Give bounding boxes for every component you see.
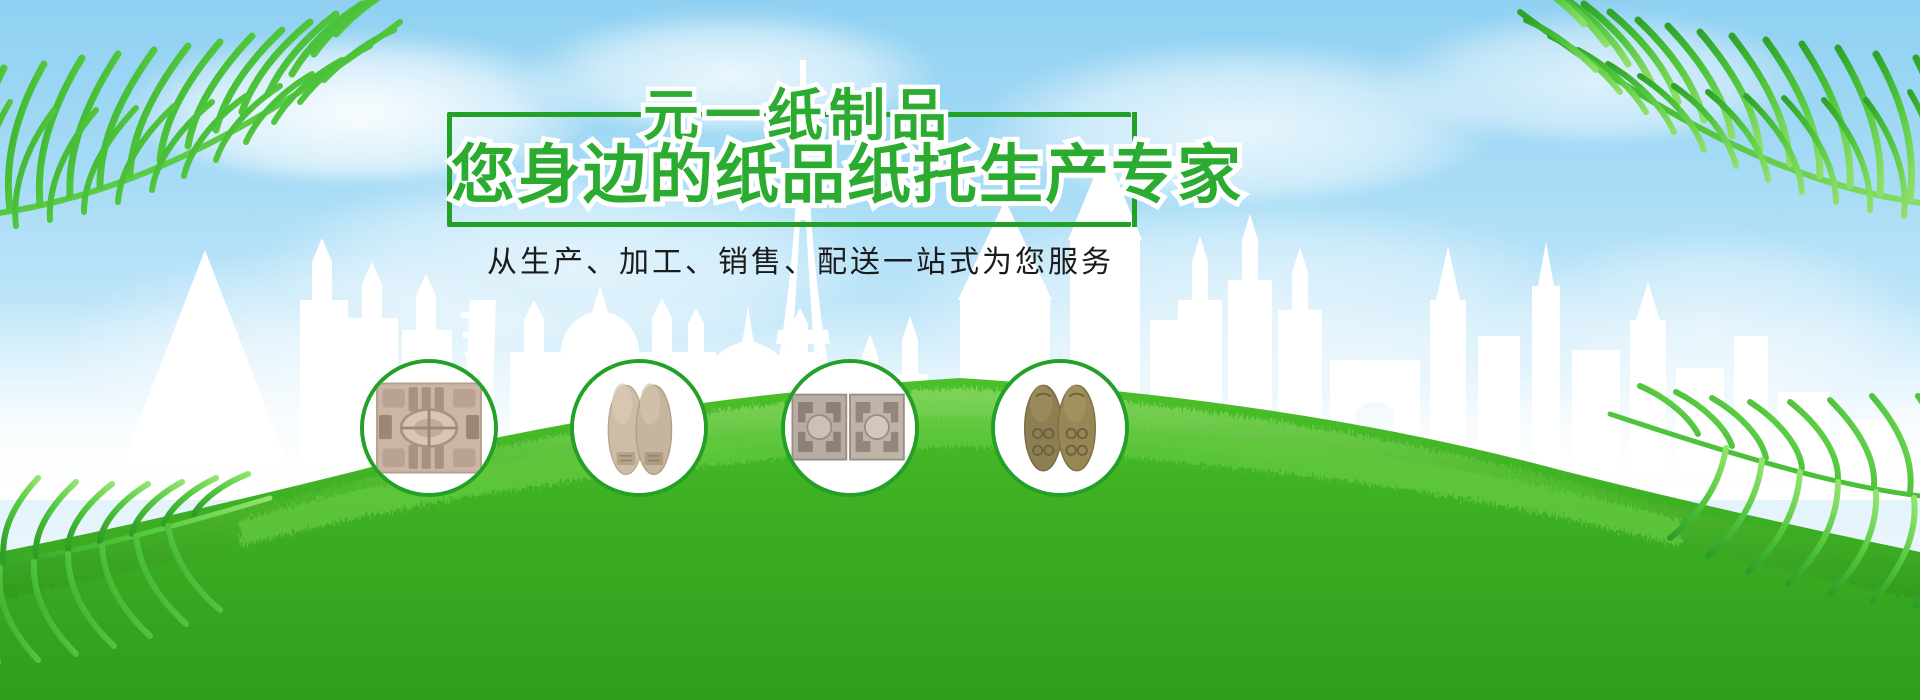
product-circle-paper-shoe-tree[interactable]	[991, 359, 1129, 497]
palm-frond-icon	[0, 450, 280, 700]
palm-frond-icon	[1480, 0, 1920, 280]
paper-shoe-insert-image	[574, 363, 704, 493]
paper-shoe-tree-image	[995, 363, 1125, 493]
page-title: 您身边的纸品纸托生产专家	[451, 144, 1243, 208]
subtitle: 从生产、加工、销售、配送一站式为您服务	[487, 237, 1107, 281]
palm-frond-icon	[1600, 360, 1920, 660]
headline-block: 元一纸制品 您身边的纸品纸托生产专家	[447, 92, 1137, 227]
product-circle-pulp-mould-packaging[interactable]	[781, 359, 919, 497]
paper-pulp-tray-image	[364, 363, 494, 493]
pulp-mould-packaging-image	[785, 363, 915, 493]
product-circle-paper-pulp-tray[interactable]	[360, 359, 498, 497]
brand-line: 元一纸制品	[643, 89, 953, 145]
promotional-banner: 元一纸制品 您身边的纸品纸托生产专家 从生产、加工、销售、配送一站式为您服务	[0, 0, 1920, 700]
palm-frond-icon	[0, 0, 440, 290]
product-circle-paper-shoe-insert[interactable]	[570, 359, 708, 497]
